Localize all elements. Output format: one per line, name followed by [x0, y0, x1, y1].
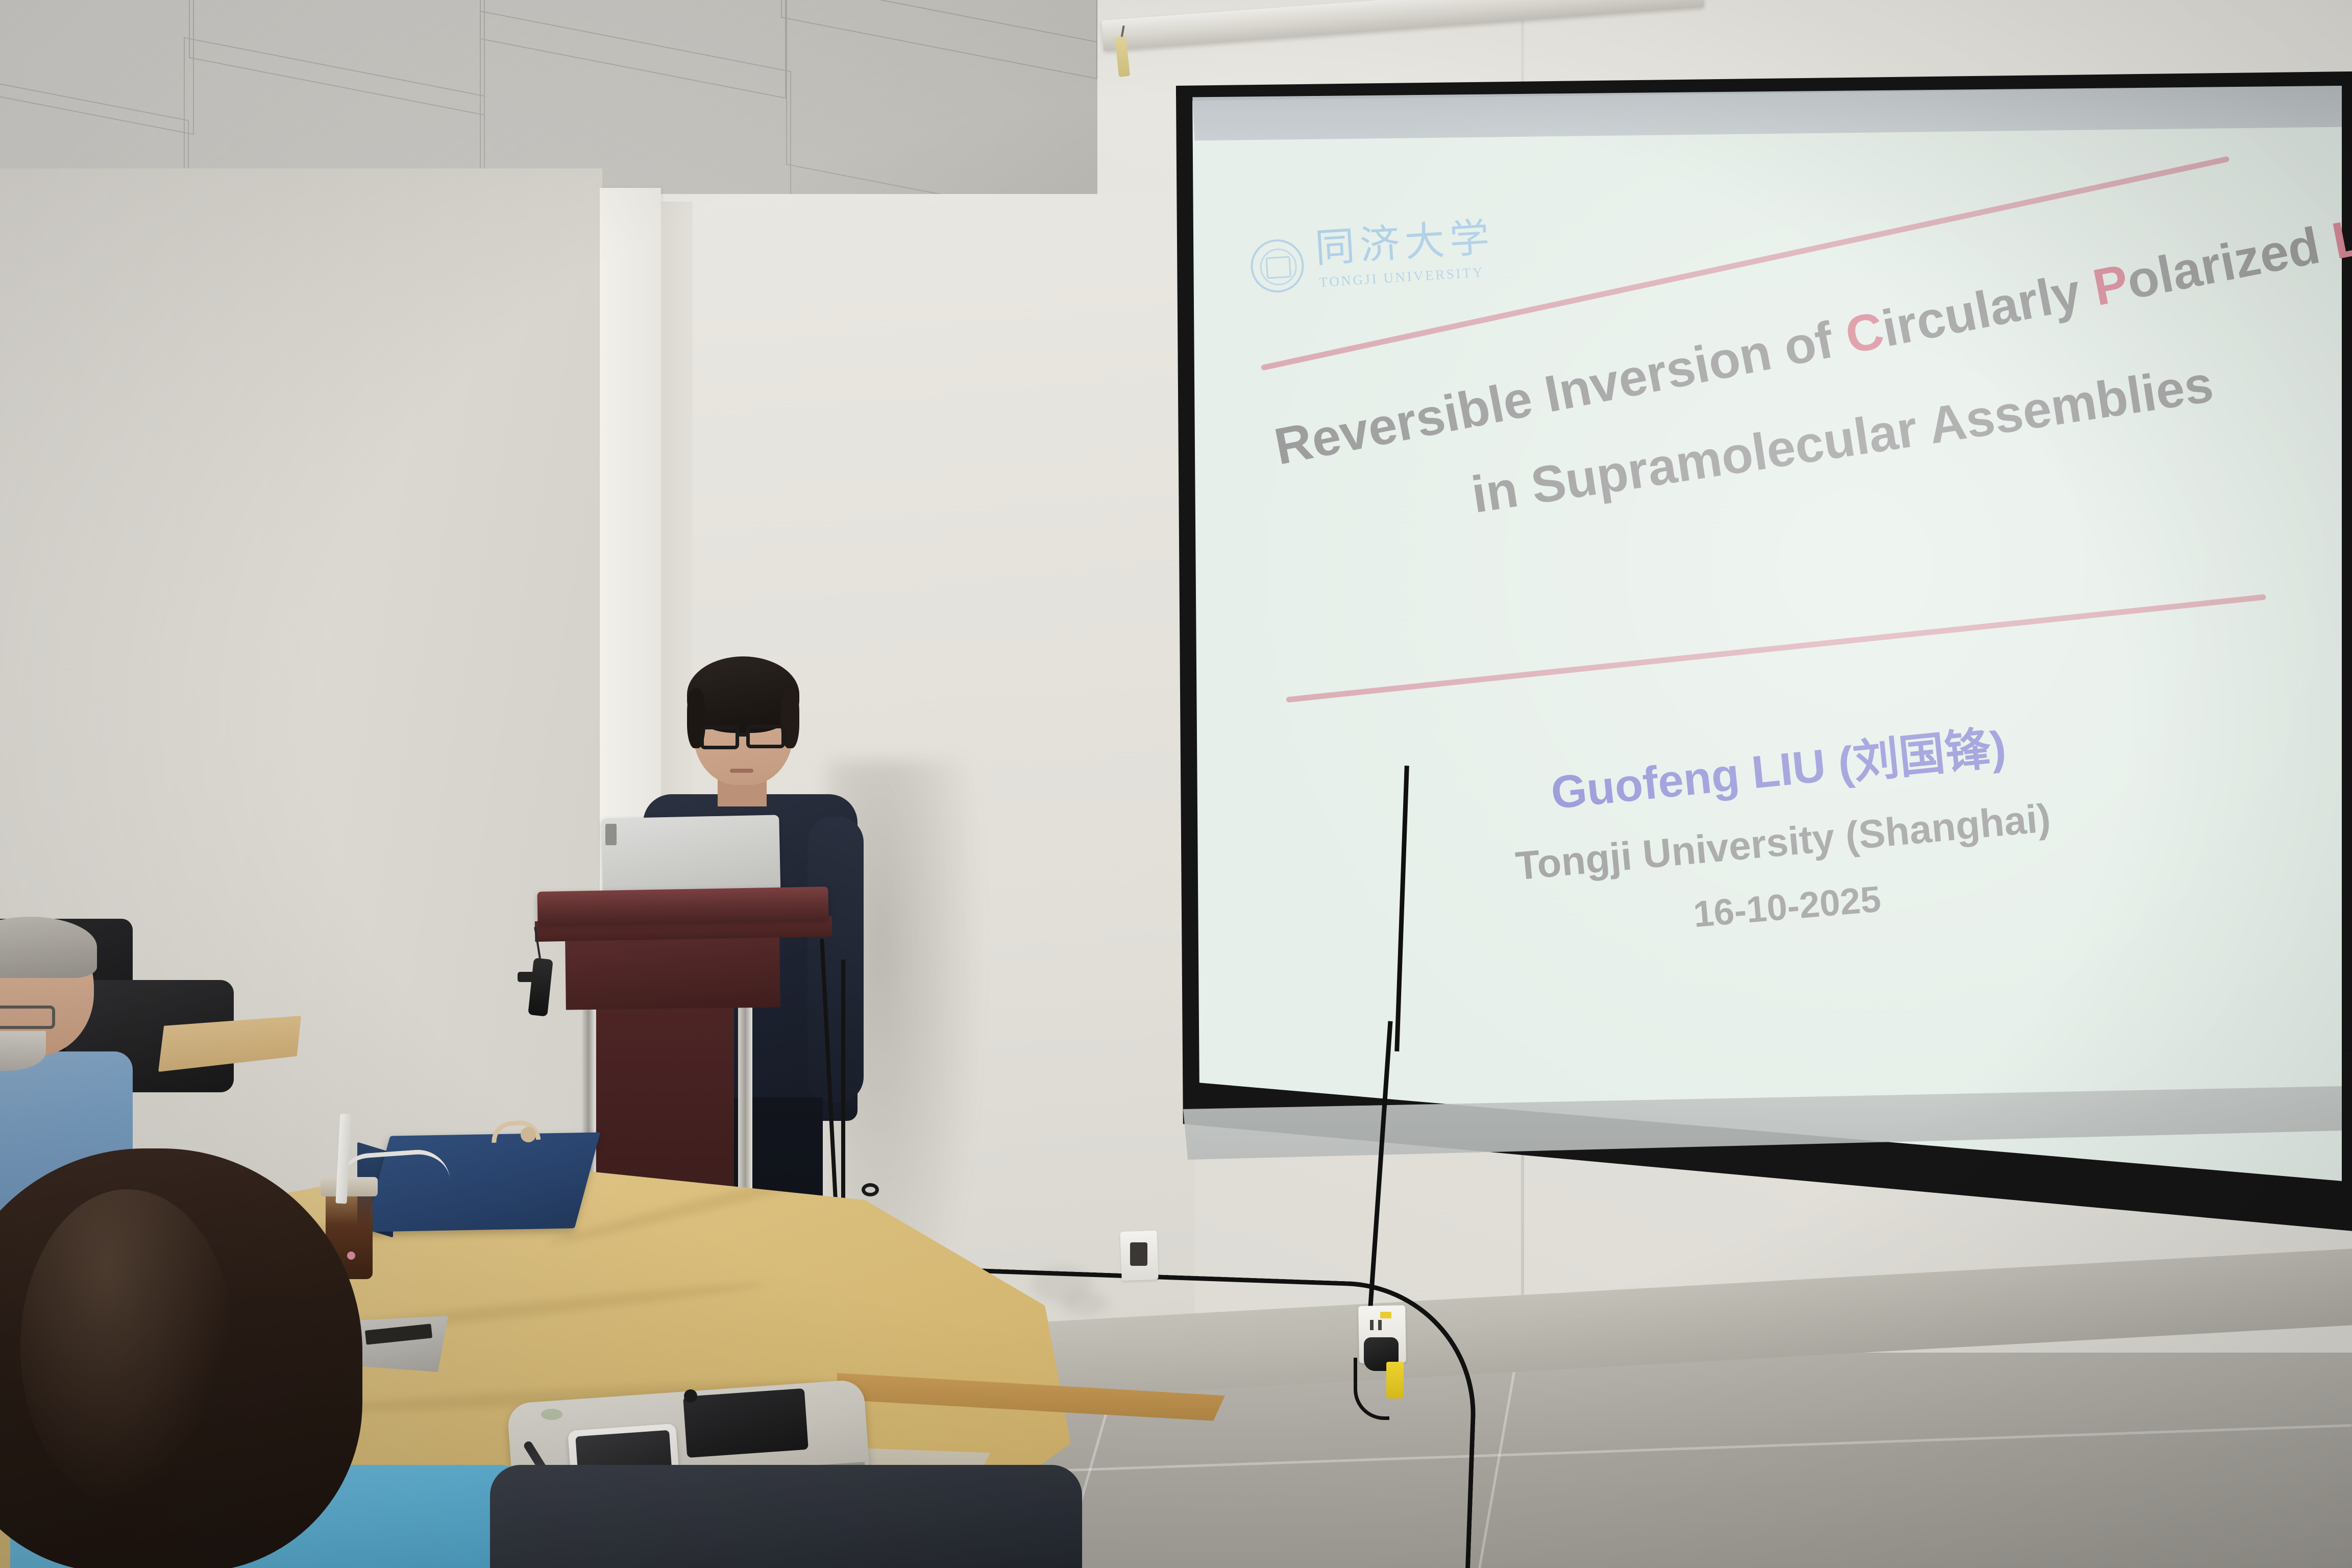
- outlet-slot-right: [1378, 1320, 1382, 1330]
- slide-title-line2: in Supramolecular Assemblies: [1363, 338, 2321, 541]
- title-seg: ircularly: [1877, 260, 2099, 357]
- outlet-slot-left: [1370, 1320, 1374, 1330]
- presentation-slide: 同济大学 TONGJI UNIVERSITY Reversible Invers…: [1183, 13, 2352, 1227]
- laptop-hinge: [605, 824, 617, 845]
- tongji-logo: 同济大学 TONGJI UNIVERSITY: [1248, 209, 1579, 306]
- university-seal-icon: [1249, 238, 1305, 294]
- eyeglasses-icon: [746, 725, 785, 748]
- cup-sticker: [347, 1252, 355, 1260]
- podium-top: [537, 887, 828, 924]
- outlet-opening: [1130, 1242, 1147, 1266]
- plug-safety-tag: [1386, 1362, 1404, 1399]
- floor-tile-line: [1477, 1364, 1517, 1568]
- seminar-room-photo: 同济大学 TONGJI UNIVERSITY Reversible Invers…: [0, 0, 2352, 1568]
- black-pouch[interactable]: [683, 1388, 808, 1458]
- foreground-chair[interactable]: [490, 1465, 1082, 1568]
- title-seg: olarized: [2122, 214, 2339, 310]
- decorative-rule-bottom: [1286, 594, 2266, 703]
- logo-chinese-name: 同济大学: [1314, 216, 1496, 269]
- gift-bag-handle-knot: [521, 1127, 536, 1142]
- cup-lid: [321, 1177, 378, 1196]
- cable-clip-icon: [862, 1183, 879, 1196]
- eyeglasses-icon: [700, 726, 739, 749]
- eyeglasses-bridge: [738, 733, 749, 737]
- hair-highlight: [20, 1189, 235, 1506]
- podium-body: [565, 936, 780, 1010]
- slide-title: Reversible Inversion of Circularly Polar…: [1270, 352, 2328, 547]
- eyeglasses-icon: [0, 1006, 55, 1029]
- seal-core-icon: [1265, 256, 1291, 279]
- sleeve-logo-icon: [541, 1409, 562, 1420]
- pouch-drawstring: [684, 1389, 697, 1403]
- outlet-label-tag: [1380, 1312, 1391, 1318]
- slide-author-block: Guofeng LIU (刘国锋) Tongji University (Sha…: [1380, 719, 2186, 954]
- presenter-mouth: [730, 769, 753, 773]
